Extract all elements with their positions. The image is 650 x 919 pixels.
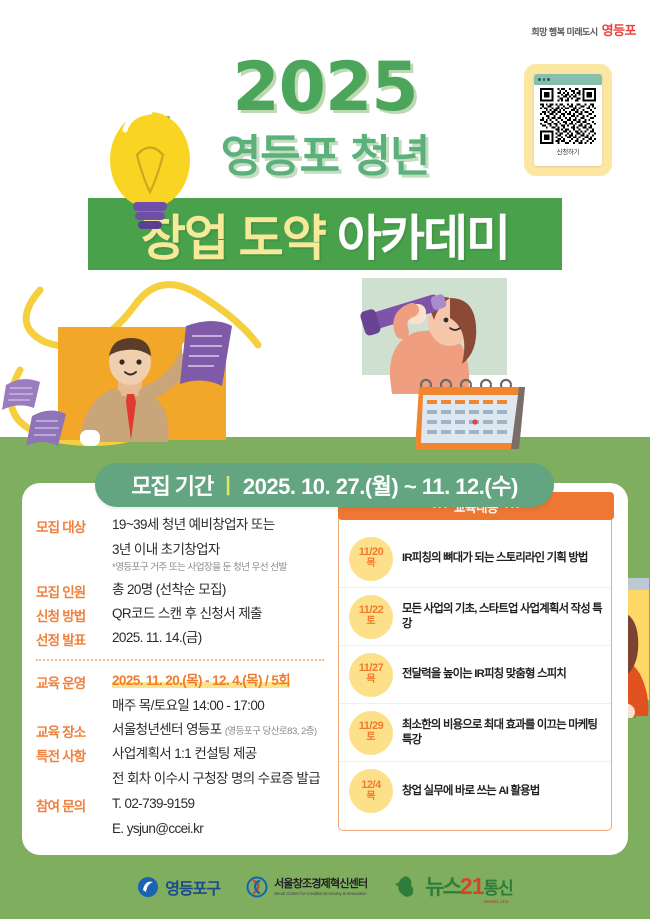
info-value: 사업계획서 1:1 컨설팅 제공	[112, 744, 257, 765]
brand-slogan: 희망 행복 미래도시	[531, 25, 597, 38]
info-value: QR코드 스캔 후 신청서 제출	[112, 604, 262, 625]
calendar-icon	[415, 373, 535, 458]
session-topic: 최소한의 비용으로 최대 효과를 이끄는 마케팅 특강	[402, 718, 603, 747]
illustration-area	[0, 270, 650, 445]
logo-label: 뉴스	[425, 871, 460, 901]
info-value: 총 20명 (선착순 모집)	[112, 580, 226, 601]
info-label: 특전 사항	[36, 744, 112, 765]
qr-card: 신청하기	[534, 74, 602, 166]
info-row-headcount: 모집 인원 총 20명 (선착순 모집)	[36, 580, 336, 601]
qr-code-icon	[540, 88, 596, 144]
section-divider	[36, 659, 324, 661]
recruit-period-label: 모집 기간	[131, 469, 213, 501]
info-label: 선정 발표	[36, 628, 112, 649]
session-date-badge: 11/20 목	[349, 537, 393, 581]
session-day: 목	[366, 792, 375, 803]
curriculum-row: 11/20 목 IR피칭의 뼈대가 되는 스토리라인 기획 방법	[339, 530, 611, 588]
ccei-symbol-icon	[246, 876, 268, 898]
info-value: 19~39세 청년 예비창업자 또는	[112, 515, 275, 536]
schedule-highlight-text: 2025. 11. 20.(목) - 12. 4.(목) / 5회	[112, 673, 290, 688]
yeongdeungpo-symbol-icon	[137, 876, 159, 898]
flying-papers-icon	[2, 379, 66, 446]
info-note-target: *영등포구 거주 또는 사업장을 둔 청년 우선 선발	[36, 561, 336, 574]
venue-name: 서울청년센터 영등포	[112, 722, 222, 737]
venue-address: (영등포구 당산로83, 2층)	[225, 726, 317, 737]
session-topic: IR피칭의 뼈대가 되는 스토리라인 기획 방법	[402, 551, 588, 566]
info-row-contact: 참여 문의 T. 02-739-9159	[36, 794, 336, 815]
session-date-badge: 11/29 토	[349, 711, 393, 755]
title-band-main: 아카데미	[337, 199, 509, 270]
info-value-highlight: 2025. 11. 20.(목) - 12. 4.(목) / 5회	[112, 671, 290, 692]
brand-logo: 희망 행복 미래도시 영등포	[531, 20, 636, 39]
info-label: 교육 운영	[36, 671, 112, 692]
recruit-period-value: 2025. 10. 27.(월) ~ 11. 12.(수)	[243, 469, 518, 501]
logo-yeongdeungpo-gu: 영등포구	[137, 875, 220, 899]
session-date-badge: 11/27 목	[349, 653, 393, 697]
poster-root: 희망 행복 미래도시 영등포 2025 영등포 청년 창업 도약 아카데미	[0, 0, 650, 919]
info-row-benefits: 특전 사항 사업계획서 1:1 컨설팅 제공	[36, 744, 336, 765]
session-day: 목	[366, 559, 375, 570]
info-label: 신청 방법	[36, 604, 112, 625]
info-label: 참여 문의	[36, 794, 112, 815]
logo-sublabel: Seoul Center for Creative Economy & Inno…	[274, 891, 367, 896]
info-label: 모집 인원	[36, 580, 112, 601]
session-topic: 창업 실무에 바로 쓰는 AI 활용법	[402, 784, 539, 799]
info-row-apply-method: 신청 방법 QR코드 스캔 후 신청서 제출	[36, 604, 336, 625]
footer-logos: 영등포구 서울창조경제혁신센터 Seoul Center for Creativ…	[0, 862, 650, 912]
session-day: 목	[366, 675, 375, 686]
session-topic: 전달력을 높이는 IR피칭 맞춤형 스피치	[402, 667, 566, 682]
curriculum-row: 11/22 토 모든 사업의 기초, 스타트업 사업계획서 작성 특강	[339, 588, 611, 646]
logo-number: 21	[460, 873, 484, 900]
curriculum-list: 11/20 목 IR피칭의 뼈대가 되는 스토리라인 기획 방법 11/22 토…	[339, 530, 611, 820]
recruit-period-banner: 모집 기간 | 2025. 10. 27.(월) ~ 11. 12.(수)	[95, 463, 554, 507]
qr-apply-label: 신청하기	[557, 146, 580, 156]
session-date: 12/4	[361, 780, 380, 792]
session-date-badge: 12/4 목	[349, 769, 393, 813]
session-day: 토	[366, 733, 375, 744]
logo-sublabel: news21.or.kr	[484, 899, 513, 904]
qr-card-titlebar	[534, 74, 602, 85]
info-label: 교육 장소	[36, 720, 112, 741]
logo-suffix: 통신	[484, 874, 513, 899]
curriculum-row: 12/4 목 창업 실무에 바로 쓰는 AI 활용법	[339, 762, 611, 820]
info-value: 서울청년센터 영등포 (영등포구 당산로83, 2층)	[112, 720, 317, 741]
curriculum-row: 11/27 목 전달력을 높이는 IR피칭 맞춤형 스피치	[339, 646, 611, 704]
info-list: 모집 대상 19~39세 청년 예비창업자 또는 3년 이내 초기창업자 *영등…	[36, 515, 336, 840]
brand-name: 영등포	[602, 20, 636, 39]
info-label: 모집 대상	[36, 515, 112, 536]
recruit-period-separator: |	[225, 474, 231, 497]
korea-peninsula-icon	[393, 874, 419, 900]
logo-label: 영등포구	[165, 875, 220, 899]
info-sub-benefits: 전 회차 이수시 구청장 명의 수료증 발급	[36, 768, 336, 790]
qr-apply-box[interactable]: 신청하기	[524, 64, 612, 176]
contact-phone[interactable]: T. 02-739-9159	[112, 794, 194, 815]
curriculum-row: 11/29 토 최소한의 비용으로 최대 효과를 이끄는 마케팅 특강	[339, 704, 611, 762]
info-value: 2025. 11. 14.(금)	[112, 628, 202, 649]
info-sub-target: 3년 이내 초기창업자	[36, 539, 336, 561]
curriculum-box: 교육내용 11/20 목 IR피칭의 뼈대가 되는 스토리라인 기획 방법 11…	[338, 507, 612, 831]
session-date-badge: 11/22 토	[349, 595, 393, 639]
info-row-announcement: 선정 발표 2025. 11. 14.(금)	[36, 628, 336, 649]
info-sub-schedule: 매주 목/토요일 14:00 - 17:00	[36, 695, 336, 717]
info-row-target: 모집 대상 19~39세 청년 예비창업자 또는	[36, 515, 336, 536]
session-topic: 모든 사업의 기초, 스타트업 사업계획서 작성 특강	[402, 602, 603, 631]
contact-email[interactable]: E. ysjun@ccei.kr	[36, 818, 336, 840]
logo-label: 서울창조경제혁신센터	[274, 878, 367, 890]
info-row-schedule: 교육 운영 2025. 11. 20.(목) - 12. 4.(목) / 5회	[36, 671, 336, 692]
businessman-illustration	[0, 290, 260, 450]
session-day: 토	[366, 617, 375, 628]
info-row-venue: 교육 장소 서울청년센터 영등포 (영등포구 당산로83, 2층)	[36, 720, 336, 741]
lightbulb-icon	[95, 100, 205, 260]
logo-seoul-ccei: 서울창조경제혁신센터 Seoul Center for Creative Eco…	[246, 876, 367, 898]
logo-news21: 뉴스21통신news21.or.kr	[393, 871, 513, 904]
content-card: 모집 대상 19~39세 청년 예비창업자 또는 3년 이내 초기창업자 *영등…	[22, 483, 628, 855]
